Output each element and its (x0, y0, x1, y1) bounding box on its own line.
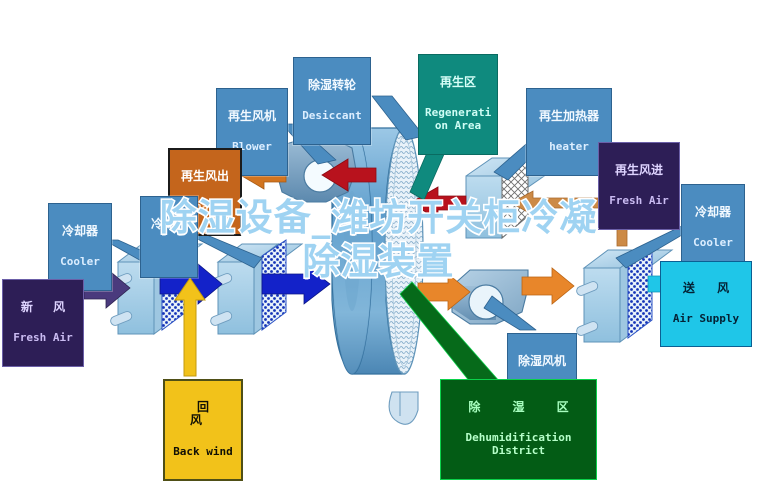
label-back-wind-en: Back wind (173, 446, 233, 458)
label-air-supply-cn: 送 风 (668, 282, 744, 295)
label-regen-blower-cn: 再生风机 (223, 110, 281, 123)
label-air-supply[interactable]: 送 风 Air Supply (660, 261, 752, 347)
label-back-wind[interactable]: 回 风 Back wind (163, 379, 243, 481)
dehumidifier-diagram: 除湿转轮 Desiccant 再生风机 Blower 再生区 Regenerat… (0, 0, 757, 488)
label-exhaust-cn: 再生风出 (176, 170, 234, 183)
label-regen-fresh-air-en: Fresh Air (605, 195, 673, 207)
label-fresh-air[interactable]: 新 风 Fresh Air (2, 279, 84, 367)
label-dehum-district-cn: 除 湿 区 (449, 401, 588, 414)
label-regen-area-cn: 再生区 (425, 76, 491, 89)
label-regen-fresh-air[interactable]: 再生风进 Fresh Air (598, 142, 680, 230)
label-regen-heater-en: heater (533, 141, 605, 153)
label-fresh-air-en: Fresh Air (9, 332, 77, 344)
label-dehum-blower-cn: 除湿风机 (514, 355, 570, 368)
label-regen-area[interactable]: 再生区 Regenerati on Area (418, 54, 498, 155)
label-regen-fresh-air-cn: 再生风进 (605, 164, 673, 177)
label-regen-area-en: Regenerati on Area (425, 107, 491, 132)
label-dehum-district[interactable]: 除 湿 区 Dehumidification District (440, 379, 597, 480)
label-dehum-district-en: Dehumidification District (449, 432, 588, 457)
label-air-supply-en: Air Supply (668, 313, 744, 325)
label-cooler-right-en: Cooler (688, 237, 738, 249)
label-cooler-right-cn: 冷却器 (688, 206, 738, 219)
label-desiccant-en: Desiccant (300, 110, 364, 122)
label-back-wind-cn: 回 风 (173, 401, 233, 428)
label-cooler-right[interactable]: 冷却器 Cooler (681, 184, 745, 272)
diagram-canvas (0, 0, 757, 488)
label-desiccant-cn: 除湿转轮 (300, 79, 364, 92)
back-wind-arrow (175, 278, 205, 376)
label-cooler-left-1-en: Cooler (55, 256, 105, 268)
dry-air-arrow-2 (522, 268, 574, 304)
label-cooler-left-1-cn: 冷却器 (55, 225, 105, 238)
label-cooler-left-2-cn: 冷却器 (147, 218, 191, 231)
label-regen-heater-cn: 再生加热器 (533, 110, 605, 123)
label-fresh-air-cn: 新 风 (9, 301, 77, 314)
label-cooler-left-2[interactable]: 冷却器 (140, 196, 198, 278)
label-desiccant[interactable]: 除湿转轮 Desiccant (293, 57, 371, 145)
